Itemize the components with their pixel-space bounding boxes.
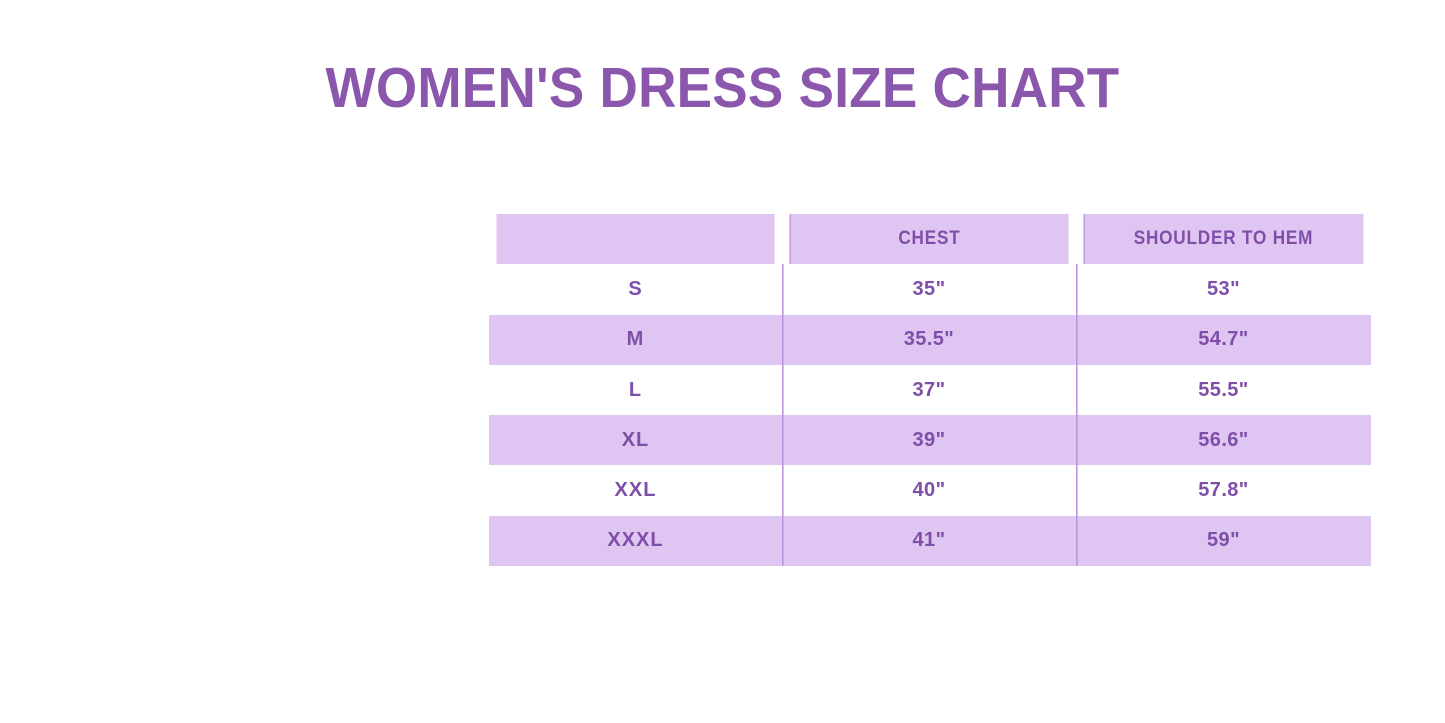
table-header-row: CHEST SHOULDER TO HEM — [489, 214, 1371, 264]
table-row: XXL 40" 57.8" — [489, 465, 1371, 515]
size-chart-table: CHEST SHOULDER TO HEM S 35" 53" M 35.5" … — [489, 214, 1371, 566]
cell-size: XL — [489, 415, 782, 465]
cell-shoulder-to-hem: 55.5" — [1076, 365, 1371, 415]
table-body: S 35" 53" M 35.5" 54.7" L 37" 55.5" XL 3… — [489, 264, 1371, 566]
cell-chest: 35" — [782, 264, 1076, 314]
cell-size: XXL — [489, 465, 782, 515]
column-header-chest: CHEST — [789, 214, 1068, 264]
cell-shoulder-to-hem: 53" — [1076, 264, 1371, 314]
cell-chest: 39" — [782, 415, 1076, 465]
cell-chest: 37" — [782, 365, 1076, 415]
column-header-chest-label: CHEST — [898, 228, 960, 250]
column-header-size — [496, 214, 774, 264]
cell-size: M — [489, 315, 782, 365]
table-header: CHEST SHOULDER TO HEM — [489, 214, 1371, 264]
cell-shoulder-to-hem: 57.8" — [1076, 465, 1371, 515]
cell-size: XXXL — [489, 516, 782, 566]
cell-chest: 41" — [782, 516, 1076, 566]
table-row: M 35.5" 54.7" — [489, 315, 1371, 365]
page-title: WOMEN'S DRESS SIZE CHART — [51, 57, 1395, 119]
cell-shoulder-to-hem: 56.6" — [1076, 415, 1371, 465]
cell-shoulder-to-hem: 54.7" — [1076, 315, 1371, 365]
cell-shoulder-to-hem: 59" — [1076, 516, 1371, 566]
table-row: XXXL 41" 59" — [489, 516, 1371, 566]
cell-size: S — [489, 264, 782, 314]
cell-chest: 35.5" — [782, 315, 1076, 365]
column-header-shoulder-to-hem: SHOULDER TO HEM — [1083, 214, 1363, 264]
cell-chest: 40" — [782, 465, 1076, 515]
table-row: L 37" 55.5" — [489, 365, 1371, 415]
cell-size: L — [489, 365, 782, 415]
table-row: XL 39" 56.6" — [489, 415, 1371, 465]
table-row: S 35" 53" — [489, 264, 1371, 314]
column-header-shoulder-to-hem-label: SHOULDER TO HEM — [1134, 228, 1314, 250]
size-chart-table-container: CHEST SHOULDER TO HEM S 35" 53" M 35.5" … — [489, 214, 1371, 566]
